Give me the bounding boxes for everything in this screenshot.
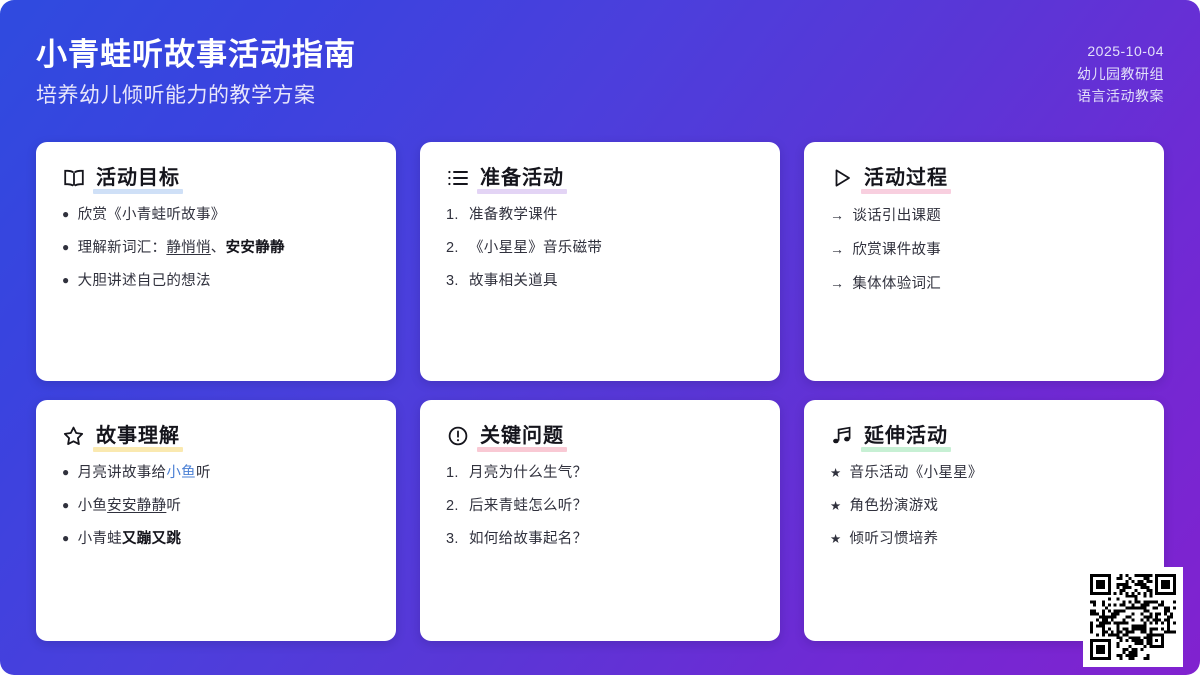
list-item-text: 谈话引出课题 bbox=[852, 206, 941, 227]
list-item: 2.《小星星》音乐磁带 bbox=[446, 238, 754, 259]
alert-circle-icon bbox=[446, 424, 469, 447]
star-icon bbox=[62, 424, 85, 447]
list-marker: 2. bbox=[446, 238, 461, 259]
qr-code[interactable] bbox=[1083, 567, 1183, 667]
card-title-wrap: 活动过程 bbox=[864, 167, 948, 189]
list-item: ●小青蛙又蹦又跳 bbox=[62, 529, 370, 550]
list-item: ●理解新词汇：静悄悄、安安静静 bbox=[62, 238, 370, 259]
list-item: ●大胆讲述自己的想法 bbox=[62, 271, 370, 292]
list-item-text: 音乐活动《小星星》 bbox=[850, 463, 983, 484]
card-alert-circle: 关键问题1.月亮为什么生气？2.后来青蛙怎么听？3.如何给故事起名？ bbox=[420, 400, 780, 641]
card-play: 活动过程→谈话引出课题→欣赏课件故事→集体体验词汇 bbox=[804, 142, 1164, 381]
card-item-list: →谈话引出课题→欣赏课件故事→集体体验词汇 bbox=[830, 205, 1138, 295]
list-marker: → bbox=[830, 273, 844, 293]
card-item-list: ★音乐活动《小星星》★角色扮演游戏★倾听习惯培养 bbox=[830, 463, 1138, 550]
list-item-text: 月亮为什么生气？ bbox=[469, 463, 587, 484]
page-title: 小青蛙听故事活动指南 bbox=[36, 36, 356, 75]
card-header: 活动过程 bbox=[830, 166, 1138, 189]
list-marker: 3. bbox=[446, 271, 461, 292]
list-marker: ● bbox=[62, 532, 70, 544]
card-title: 活动目标 bbox=[96, 167, 180, 192]
card-title-wrap: 故事理解 bbox=[96, 425, 180, 447]
card-title-wrap: 延伸活动 bbox=[864, 425, 948, 447]
list-marker: 2. bbox=[446, 496, 461, 517]
list-item: ★倾听习惯培养 bbox=[830, 529, 1138, 550]
header-meta: 2025-10-04 幼儿园教研组 语言活动教案 bbox=[1077, 28, 1164, 108]
list-item: ●月亮讲故事给小鱼听 bbox=[62, 463, 370, 484]
card-header: 延伸活动 bbox=[830, 424, 1138, 447]
list-item: →欣赏课件故事 bbox=[830, 239, 1138, 261]
card-title: 故事理解 bbox=[96, 425, 180, 450]
list-item-text: 理解新词汇：静悄悄、安安静静 bbox=[78, 238, 285, 259]
list-item-text: 小鱼安安静静听 bbox=[78, 496, 182, 517]
list-item-text: 欣赏《小青蛙听故事》 bbox=[78, 205, 226, 226]
card-title-wrap: 准备活动 bbox=[480, 167, 564, 189]
list-marker: 3. bbox=[446, 529, 461, 550]
card-title: 延伸活动 bbox=[864, 425, 948, 450]
card-title: 关键问题 bbox=[480, 425, 564, 450]
header-left: 小青蛙听故事活动指南 培养幼儿倾听能力的教学方案 bbox=[36, 28, 356, 109]
list-item-text: 角色扮演游戏 bbox=[850, 496, 939, 517]
list-marker: ● bbox=[62, 241, 70, 253]
list-item: ★音乐活动《小星星》 bbox=[830, 463, 1138, 484]
card-title-wrap: 活动目标 bbox=[96, 167, 180, 189]
card-item-list: 1.月亮为什么生气？2.后来青蛙怎么听？3.如何给故事起名？ bbox=[446, 463, 754, 550]
list-item-text: 月亮讲故事给小鱼听 bbox=[78, 463, 211, 484]
card-grid: 活动目标●欣赏《小青蛙听故事》●理解新词汇：静悄悄、安安静静●大胆讲述自己的想法… bbox=[36, 142, 1164, 641]
card-star: 故事理解●月亮讲故事给小鱼听●小鱼安安静静听●小青蛙又蹦又跳 bbox=[36, 400, 396, 641]
card-item-list: 1.准备教学课件2.《小星星》音乐磁带3.故事相关道具 bbox=[446, 205, 754, 292]
meta-category: 语言活动教案 bbox=[1077, 85, 1164, 108]
list-item: →谈话引出课题 bbox=[830, 205, 1138, 227]
list-marker: ★ bbox=[830, 497, 842, 515]
card-header: 关键问题 bbox=[446, 424, 754, 447]
list-item-text: 如何给故事起名？ bbox=[469, 529, 587, 550]
list-item-text: 欣赏课件故事 bbox=[852, 240, 941, 261]
book-icon bbox=[62, 166, 85, 189]
list-item-text: 大胆讲述自己的想法 bbox=[78, 271, 211, 292]
list-marker: → bbox=[830, 205, 844, 225]
list-item: ●小鱼安安静静听 bbox=[62, 496, 370, 517]
list-marker: → bbox=[830, 239, 844, 259]
list-item-text: 倾听习惯培养 bbox=[850, 529, 939, 550]
qr-code-image bbox=[1090, 574, 1176, 660]
list-item-text: 后来青蛙怎么听？ bbox=[469, 496, 587, 517]
list-item: →集体体验词汇 bbox=[830, 273, 1138, 295]
list-item: 3.如何给故事起名？ bbox=[446, 529, 754, 550]
list-item: 2.后来青蛙怎么听？ bbox=[446, 496, 754, 517]
card-header: 准备活动 bbox=[446, 166, 754, 189]
card-title-wrap: 关键问题 bbox=[480, 425, 564, 447]
list-icon bbox=[446, 166, 469, 189]
list-marker: ● bbox=[62, 274, 70, 286]
card-item-list: ●欣赏《小青蛙听故事》●理解新词汇：静悄悄、安安静静●大胆讲述自己的想法 bbox=[62, 205, 370, 292]
meta-org: 幼儿园教研组 bbox=[1077, 63, 1164, 86]
card-title: 活动过程 bbox=[864, 167, 948, 192]
list-item-text: 故事相关道具 bbox=[469, 271, 558, 292]
card-header: 活动目标 bbox=[62, 166, 370, 189]
card-title: 准备活动 bbox=[480, 167, 564, 192]
list-marker: 1. bbox=[446, 205, 461, 226]
header: 小青蛙听故事活动指南 培养幼儿倾听能力的教学方案 2025-10-04 幼儿园教… bbox=[0, 0, 1200, 128]
music-note-icon bbox=[830, 424, 853, 447]
list-item: ●欣赏《小青蛙听故事》 bbox=[62, 205, 370, 226]
list-item: 3.故事相关道具 bbox=[446, 271, 754, 292]
list-marker: ● bbox=[62, 499, 70, 511]
list-marker: ★ bbox=[830, 530, 842, 548]
list-item: 1.月亮为什么生气？ bbox=[446, 463, 754, 484]
list-item: ★角色扮演游戏 bbox=[830, 496, 1138, 517]
list-marker: ● bbox=[62, 208, 70, 220]
list-marker: ★ bbox=[830, 464, 842, 482]
card-book: 活动目标●欣赏《小青蛙听故事》●理解新词汇：静悄悄、安安静静●大胆讲述自己的想法 bbox=[36, 142, 396, 381]
poster-root: 小青蛙听故事活动指南 培养幼儿倾听能力的教学方案 2025-10-04 幼儿园教… bbox=[0, 0, 1200, 675]
card-header: 故事理解 bbox=[62, 424, 370, 447]
list-item-text: 准备教学课件 bbox=[469, 205, 558, 226]
list-item: 1.准备教学课件 bbox=[446, 205, 754, 226]
list-marker: 1. bbox=[446, 463, 461, 484]
card-list: 准备活动1.准备教学课件2.《小星星》音乐磁带3.故事相关道具 bbox=[420, 142, 780, 381]
play-icon bbox=[830, 166, 853, 189]
list-marker: ● bbox=[62, 466, 70, 478]
meta-date: 2025-10-04 bbox=[1077, 40, 1164, 63]
page-subtitle: 培养幼儿倾听能力的教学方案 bbox=[36, 82, 356, 109]
list-item-text: 集体体验词汇 bbox=[852, 274, 941, 295]
list-item-text: 《小星星》音乐磁带 bbox=[469, 238, 602, 259]
list-item-text: 小青蛙又蹦又跳 bbox=[78, 529, 182, 550]
card-item-list: ●月亮讲故事给小鱼听●小鱼安安静静听●小青蛙又蹦又跳 bbox=[62, 463, 370, 550]
